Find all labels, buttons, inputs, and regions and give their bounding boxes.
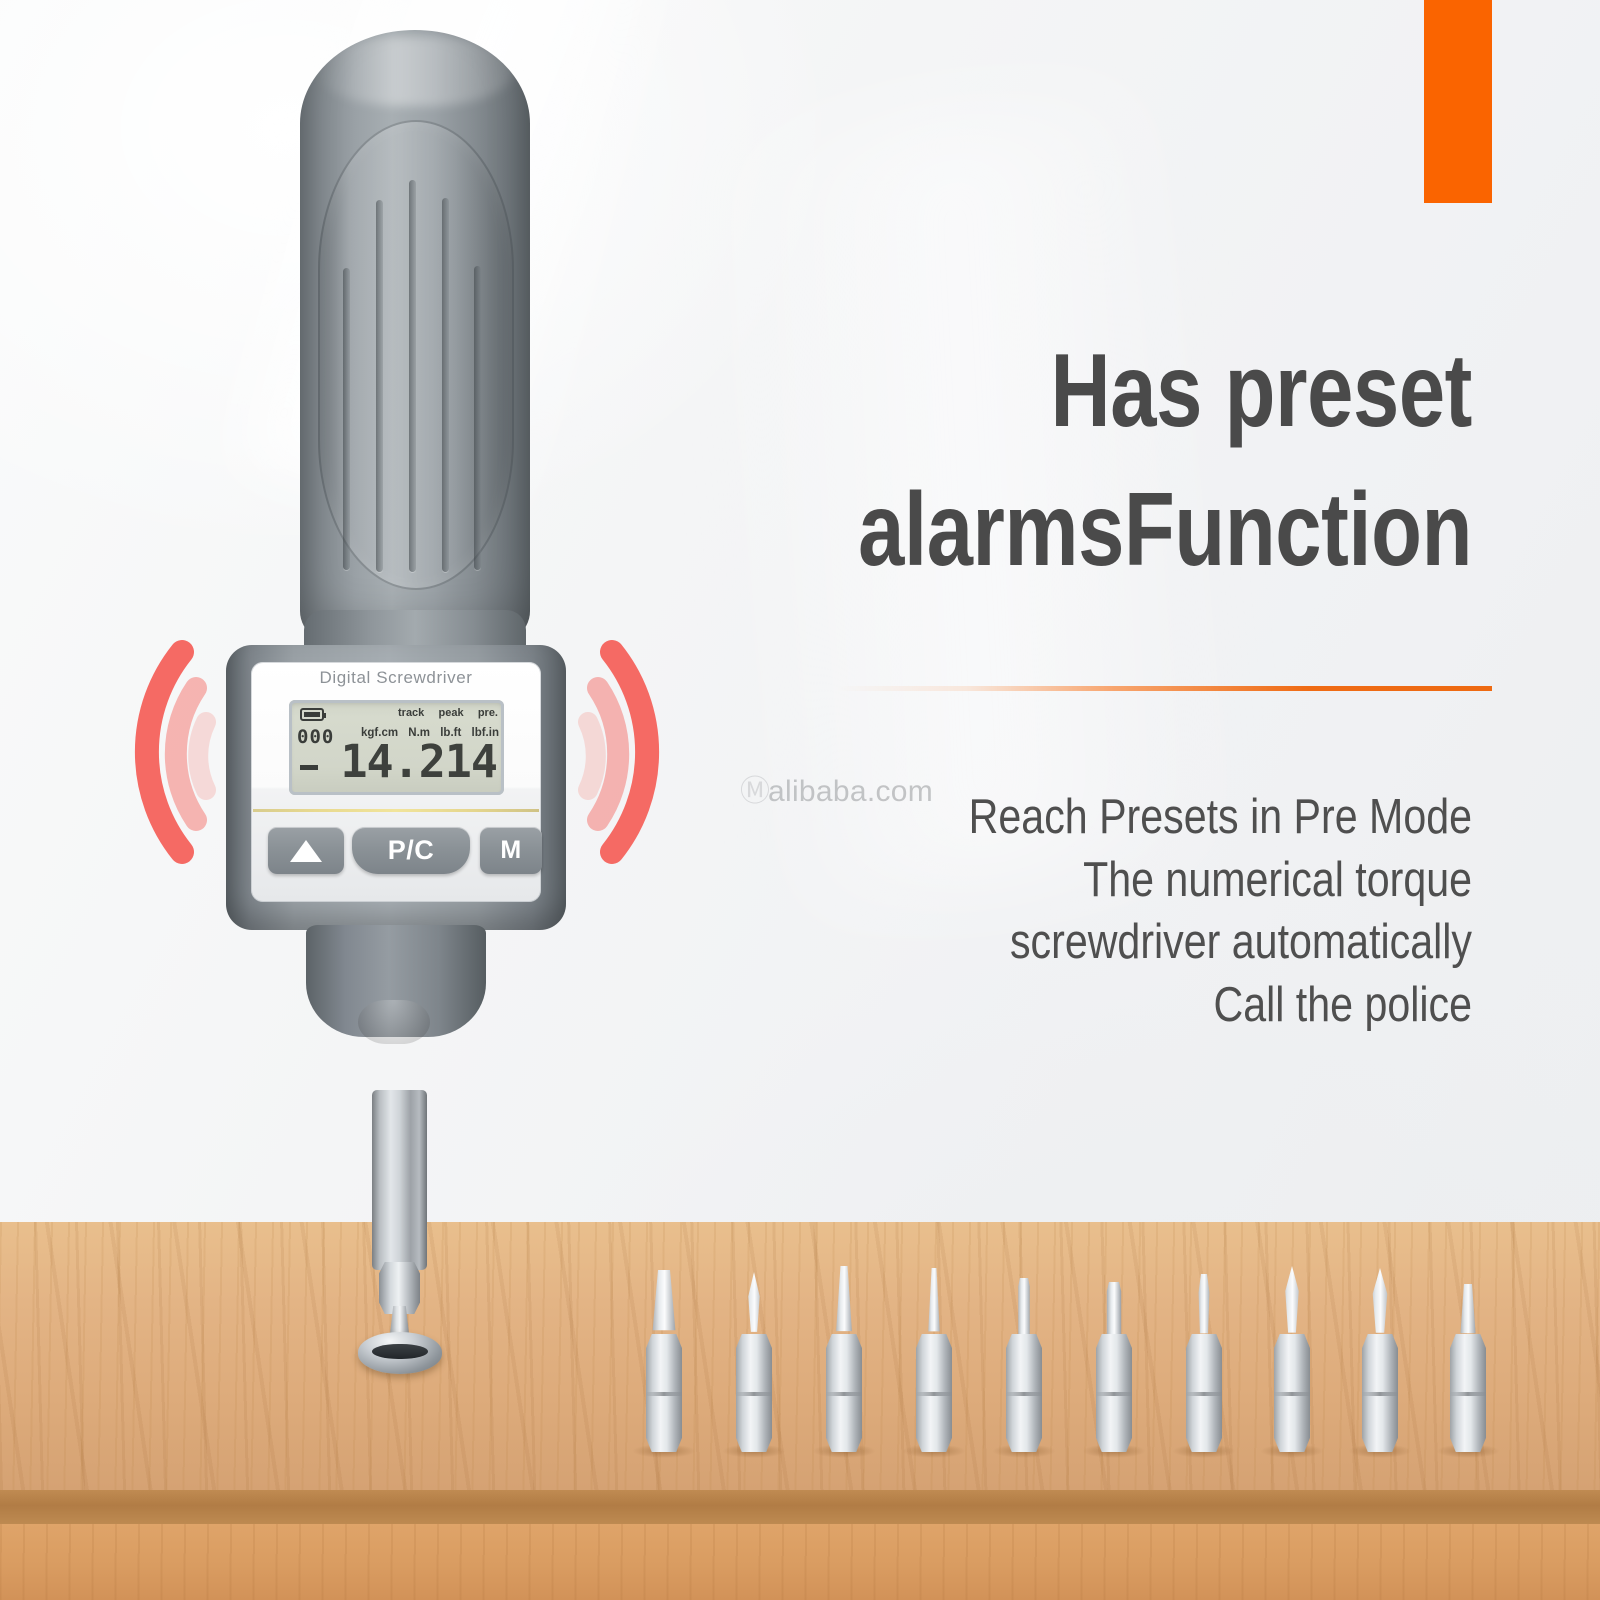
bit-tip [1016,1278,1032,1340]
bit-groove [1006,1392,1042,1396]
bit-tip [926,1268,943,1340]
screwdriver-bit-set [0,0,1600,1600]
bit-phillips-ph3 [1356,1260,1404,1452]
bit-groove [1274,1392,1310,1396]
bit-slotted-medium [820,1262,868,1452]
bit-hex-bit [1000,1272,1048,1452]
bit-tip [1196,1274,1213,1340]
bit-tip [833,1266,855,1340]
bit-slotted-narrow [910,1264,958,1452]
bit-groove [1450,1392,1486,1396]
bit-tip [1278,1266,1306,1340]
bit-square-bit [1090,1274,1138,1452]
bit-groove [916,1392,952,1396]
bit-tip [1366,1268,1394,1340]
bit-groove [826,1392,862,1396]
bit-tip [649,1270,679,1340]
bit-torx-bit [1180,1268,1228,1452]
bit-tip [741,1272,767,1340]
bit-groove [1186,1392,1222,1396]
bit-groove [736,1392,772,1396]
bit-tip [1458,1284,1478,1340]
bit-groove [1096,1392,1132,1396]
bit-groove [646,1392,682,1396]
bit-tip [1105,1282,1123,1340]
bit-slotted-wide [640,1260,688,1452]
bit-groove [1362,1392,1398,1396]
product-banner: Has preset alarmsFunction Ⓜalibaba.com R… [0,0,1600,1600]
bit-slotted-small [1444,1278,1492,1452]
bit-phillips-ph2 [1268,1258,1316,1452]
bit-phillips-large [730,1256,778,1452]
